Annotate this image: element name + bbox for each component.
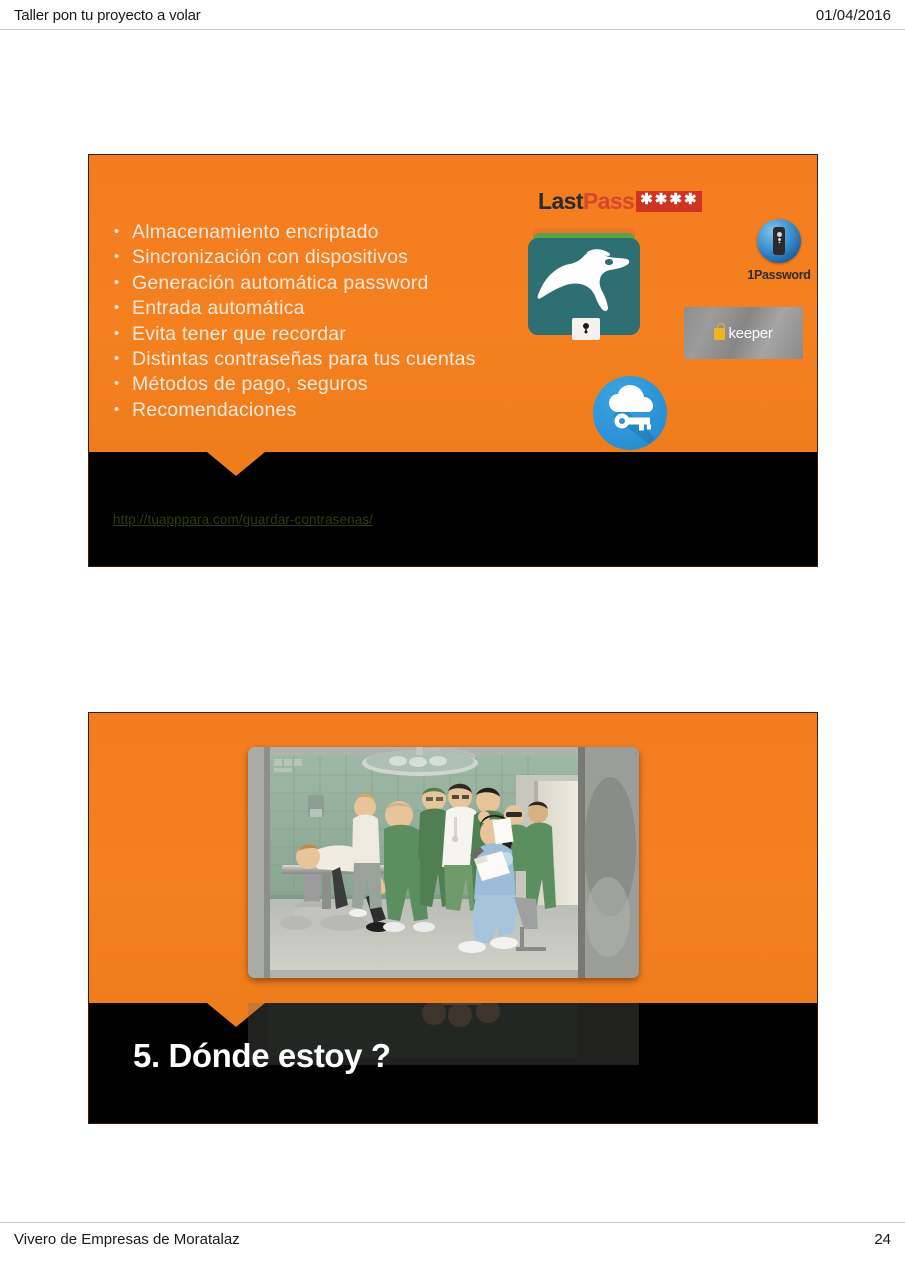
keeper-padlock-icon [714,328,725,340]
keeper-label: keeper [728,325,772,342]
list-item: Evita tener que recordar [111,322,476,347]
header-title: Taller pon tu proyecto a volar [14,7,201,24]
lastpass-asterisk-box: ✱✱✱✱ [636,191,701,212]
lastpass-word-last: Last [538,190,583,213]
page-header: Taller pon tu proyecto a volar 01/04/201… [0,0,905,30]
feature-bullet-list: Almacenamiento encriptado Sincronización… [111,220,476,423]
list-item: Almacenamiento encriptado [111,220,476,245]
slide-password-managers: Almacenamiento encriptado Sincronización… [88,154,818,567]
dashlane-keyhole-tag [572,318,600,340]
slide1-notch-triangle [207,452,265,476]
list-item: Recomendaciones [111,398,476,423]
1password-icon: 1Password [730,219,818,282]
dashlane-icon [526,228,642,335]
slide-donde-estoy: 5. Dónde estoy ? [88,712,818,1124]
1password-label: 1Password [730,268,818,282]
footer-organization: Vivero de Empresas de Moratalaz [14,1231,240,1248]
dashlane-tile-body [528,238,640,335]
cloud-key-glyph [593,376,667,450]
slide1-url-link[interactable]: http://tuapppara.com/guardar-contrasenas… [113,512,373,527]
operating-room-photo [248,747,639,978]
lastpass-word-pass: Pass [583,190,634,213]
header-divider [0,29,905,30]
slide2-notch-triangle [207,1003,265,1027]
keeper-logo: keeper [684,307,803,359]
list-item: Generación automática password [111,271,476,296]
list-item: Sincronización con dispositivos [111,245,476,270]
slide2-title: 5. Dónde estoy ? [133,1037,391,1075]
list-item: Entrada automática [111,296,476,321]
list-item: Distintas contraseñas para tus cuentas [111,347,476,372]
cloud-key-icon [593,376,667,450]
footer-page-number: 24 [874,1231,891,1248]
1password-circle-keyhole [757,219,801,263]
list-item: Métodos de pago, seguros [111,372,476,397]
impala-icon [537,247,631,315]
operating-room-illustration [248,747,639,978]
slide1-black-band [89,452,817,567]
footer-divider [0,1222,905,1223]
lastpass-logo: LastPass ✱✱✱✱ [538,188,702,214]
header-date: 01/04/2016 [816,7,891,24]
